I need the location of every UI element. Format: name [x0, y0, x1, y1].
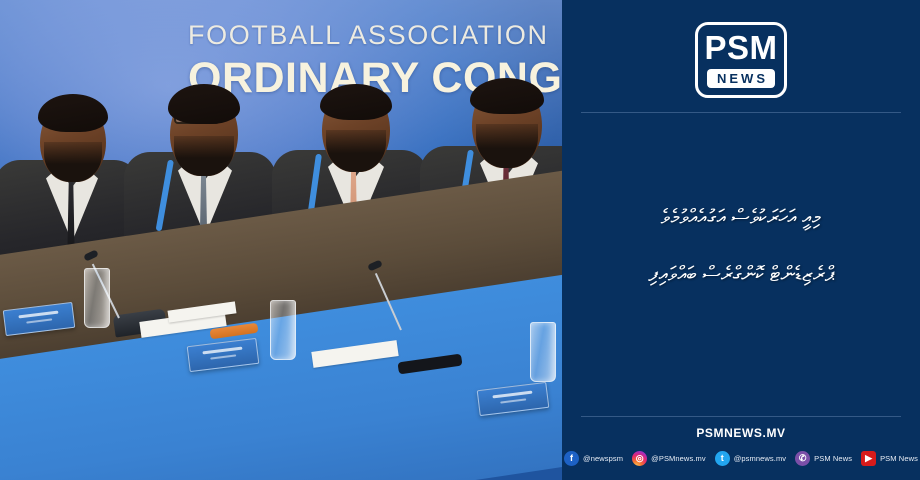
- facebook-handle: @newspsm: [583, 454, 623, 463]
- social-link-twitter[interactable]: t @psmnews.mv: [715, 451, 786, 466]
- psm-logo-secondary: NEWS: [707, 69, 775, 88]
- twitter-icon: t: [715, 451, 730, 466]
- water-glass: [270, 300, 296, 360]
- headline-block: މިއީ އަހަރަކުވެސް އަގުއެއްވުމެވެ ޕްރެޒިޑ…: [562, 113, 920, 416]
- youtube-icon: ▶: [861, 451, 876, 466]
- viber-icon: ✆: [795, 451, 810, 466]
- social-link-viber[interactable]: ✆ PSM News: [795, 451, 852, 466]
- instagram-handle: @PSMnews.mv: [651, 454, 706, 463]
- brand-panel: PSM NEWS މިއީ އަހަރަކުވެސް އަގުއެއްވުމެވ…: [562, 0, 920, 480]
- viber-handle: PSM News: [814, 454, 852, 463]
- instagram-icon: ◎: [632, 451, 647, 466]
- headline-line-2: ޕްރެޒިޑެންޓް ކޮންގްރެސް ބައްވައިފި: [648, 260, 833, 290]
- footer: PSMNEWS.MV f @newspsm ◎ @PSMnews.mv t @p…: [562, 417, 920, 480]
- psm-logo[interactable]: PSM NEWS: [695, 22, 787, 98]
- twitter-handle: @psmnews.mv: [734, 454, 786, 463]
- psm-logo-frame: PSM NEWS: [695, 22, 787, 98]
- social-link-instagram[interactable]: ◎ @PSMnews.mv: [632, 451, 706, 466]
- headline-line-1: މިއީ އަހަރަކުވެސް އަގުއެއްވުމެވެ: [661, 203, 822, 233]
- news-card: FOOTBALL ASSOCIATION ORDINARY CONG: [0, 0, 920, 480]
- social-link-facebook[interactable]: f @newspsm: [564, 451, 623, 466]
- facebook-icon: f: [564, 451, 579, 466]
- psm-logo-primary: PSM: [704, 31, 777, 64]
- panelist-hair: [470, 78, 544, 114]
- water-glass: [530, 322, 556, 382]
- news-photo: FOOTBALL ASSOCIATION ORDINARY CONG: [0, 0, 562, 480]
- water-glass: [84, 268, 110, 328]
- banner-line-1: FOOTBALL ASSOCIATION: [188, 20, 562, 51]
- panelist-hair: [320, 84, 392, 120]
- website-url: PSMNEWS.MV: [562, 426, 920, 440]
- social-link-youtube[interactable]: ▶ PSM News: [861, 451, 918, 466]
- social-links: f @newspsm ◎ @PSMnews.mv t @psmnews.mv ✆…: [562, 451, 920, 466]
- youtube-handle: PSM News: [880, 454, 918, 463]
